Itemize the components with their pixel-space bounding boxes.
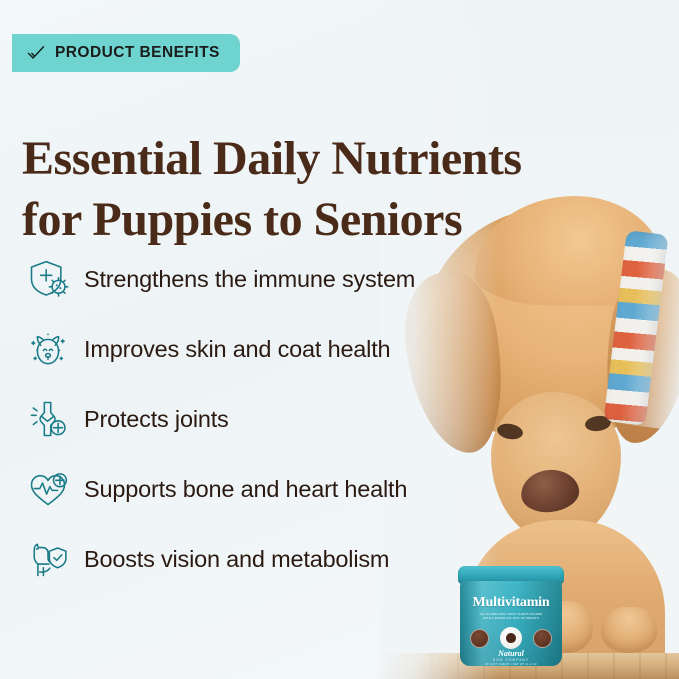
jar-seal-badge-left: [470, 629, 489, 648]
list-item-label: Boosts vision and metabolism: [84, 545, 389, 573]
jar-brand-name: Natural: [460, 649, 562, 658]
list-item: Improves skin and coat health: [26, 314, 496, 384]
jar-seal-badge-right: [533, 629, 552, 648]
list-item-label: Supports bone and heart health: [84, 475, 407, 503]
list-item-label: Strengthens the immune system: [84, 265, 415, 293]
jar-subtitle: ALL-IN-ONE DAILY SOFT CHEWS PACKED WITH …: [476, 612, 546, 620]
check-icon: [26, 43, 46, 63]
jar-brand-subtitle: DOG COMPANY: [460, 658, 562, 662]
page-title: Essential Daily Nutrients for Puppies to…: [22, 128, 662, 250]
list-item: Protects joints: [26, 384, 496, 454]
jar-badge-row: [460, 627, 562, 649]
benefits-list: Strengthens the immune system: [26, 244, 496, 594]
product-benefits-badge: PRODUCT BENEFITS: [12, 34, 240, 72]
headline-line-1: Essential Daily Nutrients: [22, 132, 522, 185]
list-item-label: Improves skin and coat health: [84, 335, 390, 363]
heart-pulse-plus-icon: [26, 467, 70, 511]
joint-bone-plus-icon: [26, 397, 70, 441]
list-item: Supports bone and heart health: [26, 454, 496, 524]
headline-line-2: for Puppies to Seniors: [22, 189, 662, 250]
list-item: Strengthens the immune system: [26, 244, 496, 314]
dog-paw: [601, 607, 657, 653]
list-item-label: Protects joints: [84, 405, 229, 433]
shield-germ-icon: [26, 257, 70, 301]
jar-body: Multivitamin ALL-IN-ONE DAILY SOFT CHEWS…: [460, 581, 562, 666]
product-jar: Multivitamin ALL-IN-ONE DAILY SOFT CHEWS…: [456, 566, 566, 666]
dog-face-sparkle-icon: [26, 327, 70, 371]
list-item: Boosts vision and metabolism: [26, 524, 496, 594]
badge-label: PRODUCT BENEFITS: [55, 44, 220, 62]
jar-net-weight: 90 SOFT CHEWS / NET WT 11.4 OZ: [460, 663, 562, 666]
jar-dog-logo: [500, 627, 522, 649]
dog-shield-check-icon: [26, 537, 70, 581]
product-benefits-banner: Multivitamin ALL-IN-ONE DAILY SOFT CHEWS…: [0, 0, 679, 679]
jar-product-name: Multivitamin: [460, 595, 562, 611]
